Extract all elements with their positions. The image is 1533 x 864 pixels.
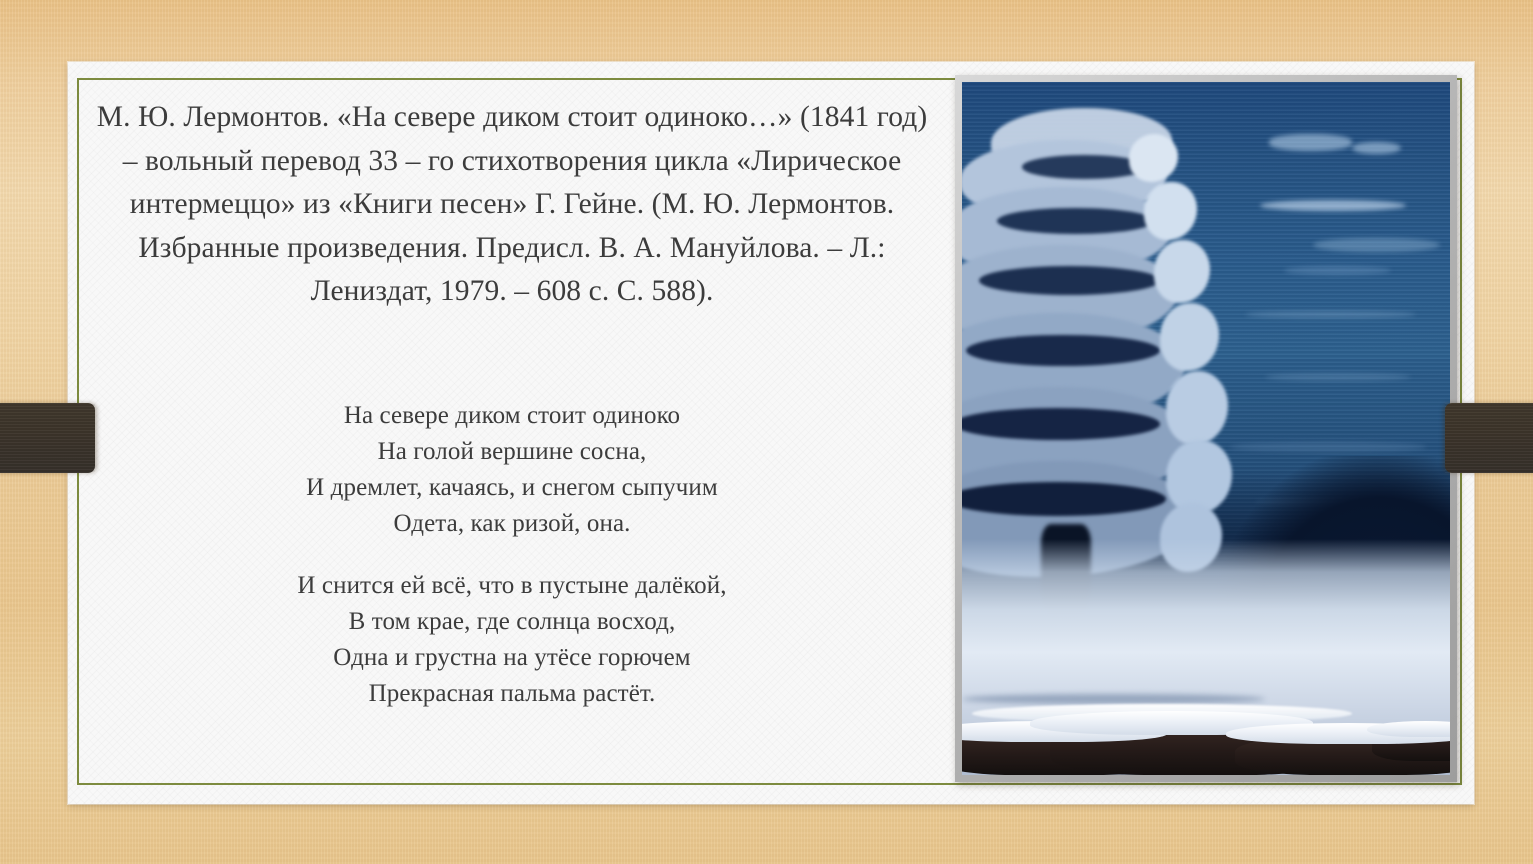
snow-edge	[1166, 371, 1228, 445]
snow-edge	[1129, 134, 1179, 181]
rock-snow-cap	[1367, 721, 1450, 737]
poem-line: В том крае, где солнца восход,	[92, 604, 932, 640]
bough-shadow	[979, 266, 1160, 295]
poem-line: На голой вершине сосна,	[92, 434, 932, 470]
poem-stanza: И снится ей всё, что в пустыне далёкой, …	[92, 568, 932, 712]
cloud	[1352, 142, 1401, 154]
poem-line: И снится ей всё, что в пустыне далёкой,	[92, 568, 932, 604]
bough-shadow	[962, 408, 1160, 440]
presentation-slide: М. Ю. Лермонтов. «На севере диком стоит …	[0, 0, 1533, 864]
poem-line: На севере диком стоит одиноко	[92, 398, 932, 434]
painting-frame	[955, 75, 1457, 782]
snow-edge	[1144, 182, 1197, 240]
snow-edge	[1160, 303, 1219, 371]
poem-line: Одна и грустна на утёсе горючем	[92, 640, 932, 676]
poem-line: Прекрасная пальма растёт.	[92, 676, 932, 712]
poem-line: И дремлет, качаясь, и снегом сыпучим	[92, 470, 932, 506]
snow-edge	[1154, 240, 1210, 303]
decorative-ribbon-right	[1445, 403, 1533, 473]
cloud	[1284, 266, 1391, 275]
decorative-ribbon-left	[0, 403, 95, 473]
cloud	[1269, 134, 1352, 151]
cloud	[1260, 200, 1406, 211]
poem-stanza: На севере диком стоит одиноко На голой в…	[92, 398, 932, 542]
snow-field	[962, 539, 1450, 775]
poem-line: Одета, как ризой, она.	[92, 506, 932, 542]
bough-shadow	[966, 335, 1160, 367]
snow-shadow	[962, 694, 1265, 705]
citation-paragraph: М. Ю. Лермонтов. «На севере диком стоит …	[92, 96, 932, 314]
poem-block: На севере диком стоит одиноко На голой в…	[92, 398, 932, 712]
snow-covered-pine-painting	[962, 82, 1450, 775]
text-column: М. Ю. Лермонтов. «На севере диком стоит …	[92, 96, 932, 712]
snow-edge	[1166, 440, 1232, 514]
